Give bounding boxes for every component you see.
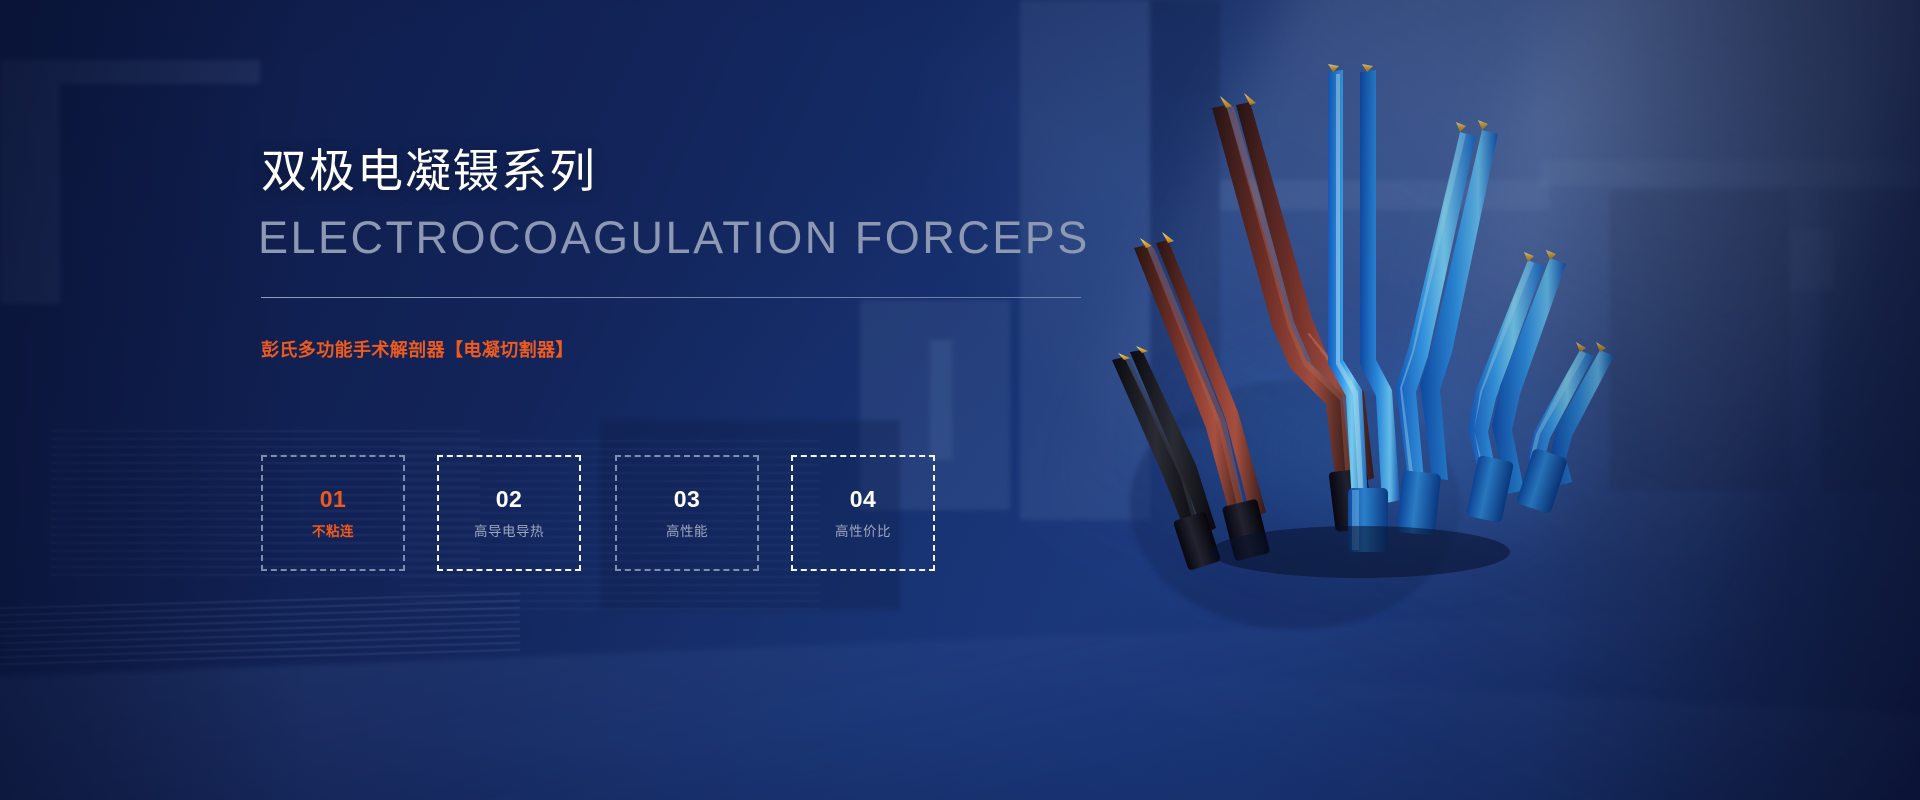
forceps-brown-bayonet (1212, 93, 1374, 532)
feature-number: 01 (320, 486, 347, 512)
page-subtitle-english: ELECTROCOAGULATION FORCEPS (258, 211, 1090, 265)
feature-card-02[interactable]: 02 高导电导热 (437, 455, 581, 571)
product-image-forceps (1060, 60, 1620, 560)
feature-number: 02 (496, 486, 523, 512)
feature-card-03[interactable]: 03 高性能 (615, 455, 759, 571)
feature-label: 高性价比 (835, 523, 891, 541)
product-tagline: 彭氏多功能手术解剖器【电凝切割器】 (261, 337, 574, 363)
banner-stage: 双极电凝镊系列 ELECTROCOAGULATION FORCEPS 彭氏多功能… (0, 0, 1920, 800)
feature-card-01[interactable]: 01 不粘连 (261, 455, 405, 571)
divider (261, 297, 1081, 298)
feature-label: 不粘连 (312, 523, 354, 541)
page-title: 双极电凝镊系列 (261, 143, 597, 199)
feature-label: 高导电导热 (474, 523, 544, 541)
banner-content: 双极电凝镊系列 ELECTROCOAGULATION FORCEPS 彭氏多功能… (261, 0, 1101, 800)
feature-number: 03 (674, 486, 701, 512)
feature-number: 04 (850, 486, 877, 512)
feature-label: 高性能 (666, 523, 708, 541)
feature-card-04[interactable]: 04 高性价比 (791, 455, 935, 571)
forceps-blue-outer-right (1516, 342, 1614, 514)
